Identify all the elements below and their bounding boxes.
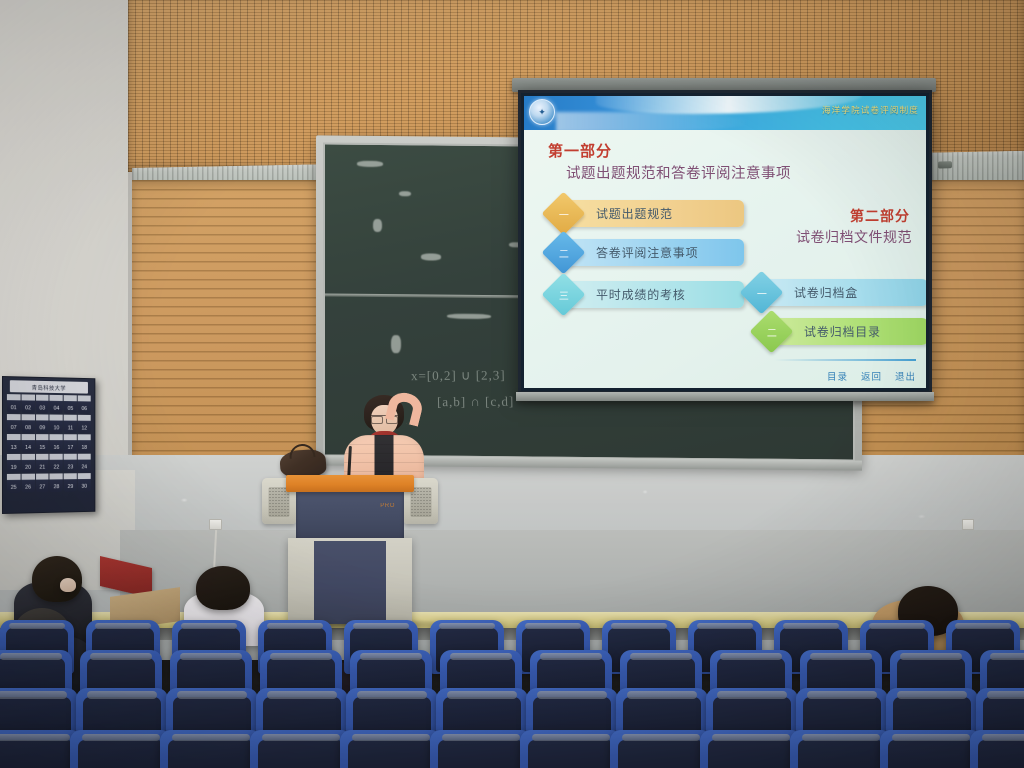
part-one-item-3-bar: 平时成绩的考核: [564, 281, 744, 308]
seat-top-rail: [532, 734, 610, 742]
part-one-item-1-marker: 一: [542, 191, 586, 235]
part-two-item-2-label: 试卷归档目录: [804, 323, 881, 340]
pocket-cell-number: 19: [11, 465, 17, 471]
seat-top-rail: [900, 653, 962, 660]
seat-top-rail: [447, 691, 517, 698]
part-two-item-2-bar: 试卷归档目录: [772, 318, 926, 345]
seat-cushion: [978, 740, 1024, 768]
speaker-grille-icon: [411, 487, 432, 517]
part-two-item-2-marker: 二: [750, 309, 794, 353]
pocket-cell-number: 04: [54, 406, 60, 412]
pocket-cell-number: 17: [68, 445, 74, 451]
part-one-item-1-label: 试题出题规范: [596, 205, 673, 222]
slide-nav-back[interactable]: 返回: [861, 369, 882, 383]
seat-cushion: [708, 740, 794, 768]
projector-screen-bottom-bar: [516, 392, 934, 401]
soffit-fixture: [938, 161, 952, 168]
pocket-cell: 25: [7, 474, 21, 493]
pocket-cell: 24: [78, 454, 91, 473]
seat-cushion: [798, 740, 884, 768]
pocket-cell-number: 06: [81, 406, 87, 412]
seat-top-rail: [717, 691, 787, 698]
multimedia-lectern: PRO: [262, 475, 438, 625]
pocket-cell: 30: [78, 473, 91, 492]
attendee-face: [60, 578, 76, 592]
seat-top-rail: [712, 734, 790, 742]
lecture-seat-row4[interactable]: [250, 730, 352, 768]
seat-cushion: [618, 740, 704, 768]
lectern-brand-label: PRO: [380, 503, 395, 509]
pocket-cell: 01: [7, 394, 21, 413]
pocket-cell: 18: [78, 434, 91, 452]
pocket-cell: 17: [64, 434, 77, 453]
seat-top-rail: [181, 623, 237, 629]
pocket-cell: 19: [7, 454, 21, 473]
pocket-cell: 09: [36, 414, 49, 433]
pocket-cell-number: 03: [39, 406, 45, 412]
pocket-cell: 08: [21, 414, 34, 433]
pocket-cell-number: 25: [11, 485, 17, 491]
seat-top-rail: [177, 691, 247, 698]
pocket-cell-number: 16: [54, 445, 60, 451]
seat-top-rail: [353, 623, 409, 629]
seat-cushion: [528, 740, 614, 768]
seat-top-rail: [95, 623, 151, 629]
pocket-cell: 14: [21, 434, 34, 453]
part-one-item-3-number: 三: [559, 287, 569, 302]
wall-plate: [962, 519, 974, 530]
slide-nav-contents[interactable]: 目录: [827, 369, 848, 383]
seat-top-rail: [87, 691, 157, 698]
seat-top-rail: [697, 623, 753, 629]
chalk-line-1: x=[0,2] ∪ [2,3]: [411, 367, 506, 384]
lecture-seat-row4[interactable]: [340, 730, 442, 768]
pocket-cell: 26: [21, 474, 34, 493]
pocket-cell: 22: [50, 454, 63, 473]
slide-navigation: 目录 返回 退出: [827, 369, 916, 383]
pocket-cell: 05: [64, 395, 77, 414]
part-one-item-3-label: 平时成绩的考核: [596, 286, 686, 303]
lecture-seat-row4[interactable]: [790, 730, 892, 768]
seat-top-rail: [352, 734, 430, 742]
lecture-seat-row4[interactable]: [970, 730, 1024, 768]
seat-top-rail: [990, 653, 1024, 660]
seat-top-rail: [270, 653, 332, 660]
seat-top-rail: [987, 691, 1024, 698]
university-emblem-icon: ✦: [529, 99, 555, 125]
seat-cushion: [0, 740, 74, 768]
part-one-item-1-number: 一: [559, 206, 569, 221]
pocket-cell-number: 09: [39, 425, 45, 431]
part-two-item-1-marker: 一: [740, 270, 784, 314]
seat-top-rail: [0, 653, 62, 660]
part-one-item-2-marker: 二: [542, 230, 586, 274]
pocket-cell-number: 14: [25, 445, 31, 451]
pocket-cell-number: 01: [11, 405, 17, 411]
seat-top-rail: [627, 691, 697, 698]
lecture-seat-row4[interactable]: [610, 730, 712, 768]
pocket-cell-number: 28: [54, 484, 60, 490]
slide-nav-exit[interactable]: 退出: [895, 369, 916, 383]
part-one-item-3-marker: 三: [542, 272, 586, 316]
pocket-cell-number: 12: [81, 426, 87, 432]
pocket-cell-number: 11: [68, 425, 73, 431]
pocket-cell: 15: [36, 434, 49, 453]
pocket-cell: 21: [36, 454, 49, 473]
seat-top-rail: [450, 653, 512, 660]
pocket-cell: 13: [7, 434, 21, 453]
seat-top-rail: [262, 734, 340, 742]
seat-cushion: [888, 740, 974, 768]
seat-top-rail: [611, 623, 667, 629]
pocket-cell: 10: [50, 415, 63, 434]
seat-cushion: [168, 740, 254, 768]
part-one-item-1-bar: 试题出题规范: [564, 200, 744, 227]
attendee-head: [196, 566, 250, 610]
seat-top-rail: [439, 623, 495, 629]
lectern-orange-top: [286, 475, 414, 492]
seat-top-rail: [172, 734, 250, 742]
seat-top-rail: [357, 691, 427, 698]
presentation-slide: ✦ 海洋学院试卷评阅制度 第一部分 试题出题规范和答卷评阅注意事项 试题出题规范…: [524, 96, 926, 388]
pocket-cell: 06: [78, 395, 91, 414]
lectern-front-panel: [314, 541, 386, 624]
lectern-front-upper: PRO: [296, 492, 404, 540]
seat-top-rail: [720, 653, 782, 660]
part-two-item-1-number: 一: [757, 285, 767, 300]
pocket-board-title-text: 青岛科技大学: [32, 383, 66, 392]
pocket-cell: 04: [50, 395, 63, 414]
pocket-grid: 0102030405060708091011121314151617181920…: [5, 394, 93, 493]
part-two-subtitle: 试卷归档文件规范: [796, 227, 912, 247]
lecture-seat-row4[interactable]: [70, 730, 172, 768]
slide-header-banner: ✦ 海洋学院试卷评阅制度: [524, 96, 926, 130]
pocket-cell-number: 05: [68, 406, 74, 412]
lecture-seat-row4[interactable]: [700, 730, 802, 768]
pocket-cell-number: 15: [39, 445, 45, 451]
seat-top-rail: [90, 653, 152, 660]
lecture-seat-row4[interactable]: [880, 730, 982, 768]
pocket-cell-number: 13: [11, 445, 17, 451]
pocket-cell: 27: [36, 474, 49, 493]
pocket-cell: 20: [21, 454, 34, 473]
pocket-cell-number: 08: [25, 425, 31, 431]
seat-top-rail: [807, 691, 877, 698]
part-two-item-2-number: 二: [767, 324, 777, 339]
pocket-cell-number: 27: [39, 484, 45, 490]
seat-top-rail: [802, 734, 880, 742]
part-two-item-1-label: 试卷归档盒: [794, 284, 858, 301]
slide-footer-rule: [774, 359, 916, 361]
pocket-cell: 12: [78, 415, 91, 434]
part-two-number: 第二部分: [850, 206, 910, 226]
pocket-cell: 11: [64, 415, 77, 434]
pocket-cell: 03: [36, 395, 49, 414]
chalk-line-2: [a,b] ∩ [c,d]: [437, 394, 515, 411]
lecture-hall-photo: 青岛科技大学 010203040506070809101112131415161…: [0, 0, 1024, 768]
pocket-cell: 29: [64, 473, 77, 492]
seat-top-rail: [540, 653, 602, 660]
pocket-cell-number: 26: [25, 485, 31, 491]
pocket-cell: 07: [7, 414, 21, 433]
pocket-cell-number: 18: [81, 445, 87, 451]
part-one-subtitle: 试题出题规范和答卷评阅注意事项: [566, 162, 791, 183]
seat-top-rail: [892, 734, 970, 742]
pocket-cell-number: 24: [81, 464, 87, 470]
lecture-seat-row4[interactable]: [160, 730, 262, 768]
seat-top-rail: [982, 734, 1024, 742]
part-one-item-2-number: 二: [559, 245, 569, 260]
seat-top-rail: [630, 653, 692, 660]
slide-banner-text: 海洋学院试卷评阅制度: [822, 104, 919, 116]
projection-screen: ✦ 海洋学院试卷评阅制度 第一部分 试题出题规范和答卷评阅注意事项 试题出题规范…: [518, 90, 932, 394]
pocket-cell: 02: [21, 394, 34, 413]
seat-top-rail: [360, 653, 422, 660]
seat-cushion: [348, 740, 434, 768]
seat-top-rail: [0, 734, 70, 742]
seat-top-rail: [180, 653, 242, 660]
pocket-cell-number: 07: [11, 425, 17, 431]
part-two-item-1-bar: 试卷归档盒: [762, 279, 926, 306]
seat-cushion: [438, 740, 524, 768]
pocket-cell-number: 21: [39, 465, 45, 471]
seat-top-rail: [267, 691, 337, 698]
seat-top-rail: [622, 734, 700, 742]
part-one-item-2-bar: 答卷评阅注意事项: [564, 239, 744, 266]
part-one-number: 第一部分: [548, 140, 612, 161]
lecture-seat-row4[interactable]: [430, 730, 532, 768]
pocket-cell: 16: [50, 434, 63, 453]
pocket-cell-number: 20: [25, 465, 31, 471]
pocket-cell-number: 30: [81, 484, 87, 490]
seat-top-rail: [537, 691, 607, 698]
pocket-cell-number: 29: [68, 484, 74, 490]
seat-top-rail: [897, 691, 967, 698]
seat-top-rail: [869, 623, 925, 629]
pocket-cell-number: 22: [54, 465, 60, 471]
seat-top-rail: [267, 623, 323, 629]
banner-swoosh-secondary: [556, 112, 749, 130]
pocket-board-title: 青岛科技大学: [10, 380, 88, 393]
seat-cushion: [78, 740, 164, 768]
lecture-seat-row4[interactable]: [520, 730, 622, 768]
seat-top-rail: [783, 623, 839, 629]
seat-cushion: [258, 740, 344, 768]
pocket-cell: 28: [50, 473, 63, 492]
seat-top-rail: [0, 691, 67, 698]
seat-top-rail: [810, 653, 872, 660]
seat-top-rail: [525, 623, 581, 629]
part-one-item-2-label: 答卷评阅注意事项: [596, 244, 698, 261]
phone-pocket-board: 青岛科技大学 010203040506070809101112131415161…: [2, 376, 95, 514]
power-outlet: [209, 519, 222, 530]
seat-top-rail: [82, 734, 160, 742]
attendee-head: [32, 556, 82, 602]
seat-top-rail: [442, 734, 520, 742]
seat-top-rail: [9, 623, 65, 629]
pocket-cell-number: 23: [68, 464, 74, 470]
pocket-cell-number: 02: [25, 405, 31, 411]
pocket-cell: 23: [64, 454, 77, 473]
pocket-cell-number: 10: [54, 425, 60, 431]
seat-top-rail: [955, 623, 1011, 629]
